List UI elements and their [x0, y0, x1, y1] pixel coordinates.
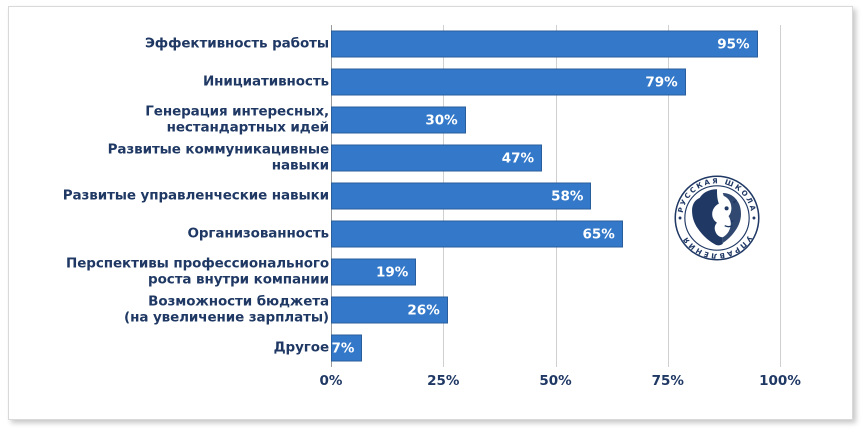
bar[interactable]: 58% [331, 183, 591, 210]
x-tick-label: 100% [759, 373, 801, 389]
bar-row: Возможности бюджета (на увеличение зарпл… [9, 291, 854, 329]
bar-row: Эффективность работы95% [9, 25, 854, 63]
bar-track: 7% [331, 335, 780, 362]
lion-head-icon [692, 189, 741, 245]
bar-row: Другое7% [9, 329, 854, 367]
category-label: Перспективы профессионального роста внут… [19, 257, 329, 288]
bar-value-label: 65% [583, 226, 622, 242]
bar[interactable]: 19% [331, 259, 416, 286]
x-tick-label: 75% [652, 373, 684, 389]
bar[interactable]: 26% [331, 297, 448, 324]
bar-value-label: 58% [551, 188, 590, 204]
x-tick-label: 25% [427, 373, 459, 389]
bar[interactable]: 95% [331, 31, 758, 58]
category-label: Организованность [19, 226, 329, 242]
bar-track: 26% [331, 297, 780, 324]
category-label: Генерация интересных, нестандартных идей [19, 105, 329, 136]
bar-row: Инициативность79% [9, 63, 854, 101]
bar-row: Генерация интересных, нестандартных идей… [9, 101, 854, 139]
bar[interactable]: 79% [331, 69, 686, 96]
bar-value-label: 95% [717, 36, 756, 52]
category-label: Возможности бюджета (на увеличение зарпл… [19, 295, 329, 326]
bar[interactable]: 30% [331, 107, 466, 134]
bar-value-label: 30% [425, 112, 464, 128]
bar-track: 95% [331, 31, 780, 58]
category-label: Другое [19, 340, 329, 356]
bar-value-label: 79% [645, 74, 684, 90]
chart-card: Эффективность работы95%Инициативность79%… [8, 6, 853, 420]
category-label: Развитые коммуникацивные навыки [19, 143, 329, 174]
x-tick-label: 50% [539, 373, 571, 389]
category-label: Инициативность [19, 74, 329, 90]
x-axis: 0%25%50%75%100% [9, 369, 854, 395]
category-label: Развитые управленческие навыки [19, 188, 329, 204]
bar-value-label: 7% [332, 340, 362, 356]
bar-track: 47% [331, 145, 780, 172]
logo-russian-school-of-management: РУССКАЯ ШКОЛА УПРАВЛЕНИЯ [669, 170, 765, 266]
bar-value-label: 26% [407, 302, 446, 318]
bar-value-label: 47% [502, 150, 541, 166]
bar[interactable]: 7% [331, 335, 362, 362]
bar[interactable]: 47% [331, 145, 542, 172]
category-label: Эффективность работы [19, 36, 329, 52]
bar-track: 79% [331, 69, 780, 96]
bar-value-label: 19% [376, 264, 415, 280]
bar[interactable]: 65% [331, 221, 623, 248]
x-tick-label: 0% [320, 373, 343, 389]
bar-track: 30% [331, 107, 780, 134]
